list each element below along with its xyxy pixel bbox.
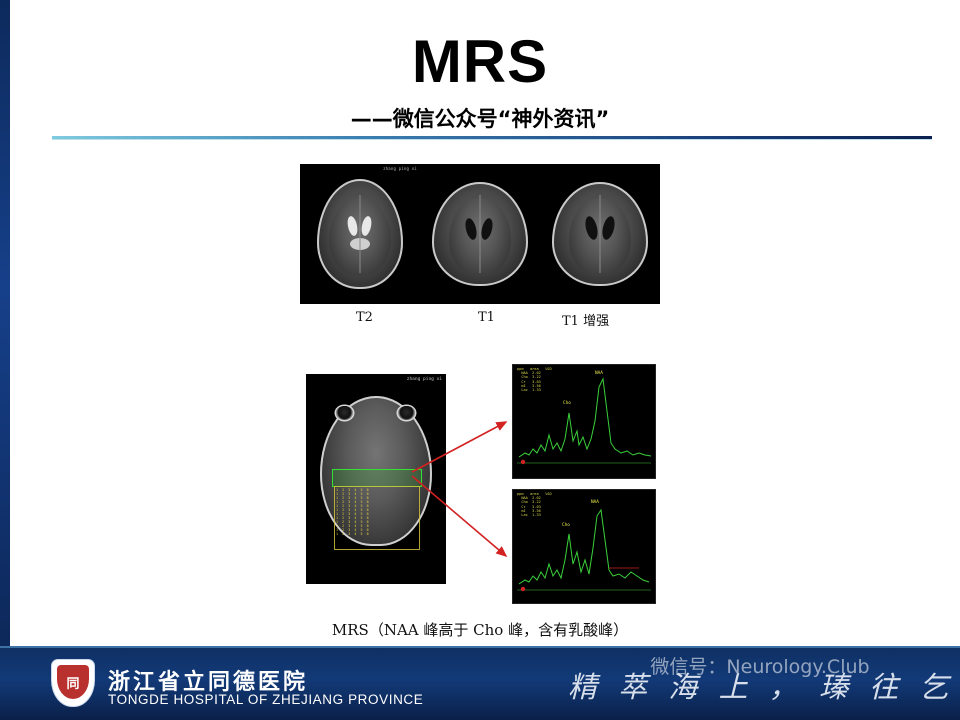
logo-character: 同 xyxy=(57,665,89,699)
sequence-label-t2: T2 xyxy=(356,310,373,325)
footer-top-rule xyxy=(0,646,960,648)
page-subtitle: ——微信公众号“神外资讯” xyxy=(0,103,960,133)
slide-root: MRS ——微信公众号“神外资讯” zhang ping xi xyxy=(0,0,960,720)
hospital-logo: 同 xyxy=(52,660,96,708)
spectrum-bottom-trace xyxy=(513,490,655,603)
page-title: MRS xyxy=(0,30,960,94)
mri-stamp-t2: zhang ping xi xyxy=(383,166,417,171)
spectrum-bottom-peak-cho: Cho xyxy=(562,523,570,528)
hospital-name-en: TONGDE HOSPITAL OF ZHEJIANG PROVINCE xyxy=(108,692,423,707)
spectrum-panel-bottom: ppm area %SD NAA 2.02 Cho 3.22 Cr 3.03 m… xyxy=(512,489,656,604)
sequence-label-row: T2 T1 T1 增强 xyxy=(300,310,660,330)
mri-image-t1 xyxy=(420,164,540,304)
figure-container: zhang ping xi xyxy=(300,164,660,644)
sequence-label-t1-contrast: T1 增强 xyxy=(562,310,609,329)
voxel-grid-annotations: 1 2 3 4 5 6 1 2 3 4 5 6 1 2 3 4 5 6 1 2 … xyxy=(336,488,369,536)
figure-caption: MRS（NAA 峰高于 Cho 峰，含有乳酸峰） xyxy=(290,619,670,640)
spectrum-top-peak-naa: NAA xyxy=(595,371,603,376)
shield-icon: 同 xyxy=(52,660,94,706)
orbit-left xyxy=(336,406,353,420)
midline-t2 xyxy=(360,195,361,273)
midline-t1 xyxy=(480,195,481,273)
title-divider-highlight xyxy=(52,139,932,140)
mrs-localizer-image: zhang ping xi 1 2 3 4 5 6 1 2 3 4 5 6 1 … xyxy=(306,374,446,584)
orbit-right xyxy=(398,406,415,420)
mri-image-t2: zhang ping xi xyxy=(300,164,420,304)
localizer-stamp: zhang ping xi xyxy=(407,377,442,382)
midline-t1c xyxy=(600,195,601,273)
sequence-label-t1: T1 xyxy=(478,310,495,325)
spectrum-panel-top: ppm area %SD NAA 2.02 Cho 3.22 Cr 3.03 m… xyxy=(512,364,656,479)
spectroscopy-block: zhang ping xi 1 2 3 4 5 6 1 2 3 4 5 6 1 … xyxy=(300,364,660,614)
spectrum-top-peak-cho: Cho xyxy=(563,401,571,406)
spectrum-top-trace xyxy=(513,365,655,478)
mri-axial-row: zhang ping xi xyxy=(300,164,660,304)
voi-green-box xyxy=(332,469,422,487)
spectrum-bottom-peak-naa: NAA xyxy=(591,500,599,505)
mri-image-t1-contrast xyxy=(540,164,660,304)
wechat-watermark: 微信号：Neurology.Club xyxy=(560,652,960,679)
